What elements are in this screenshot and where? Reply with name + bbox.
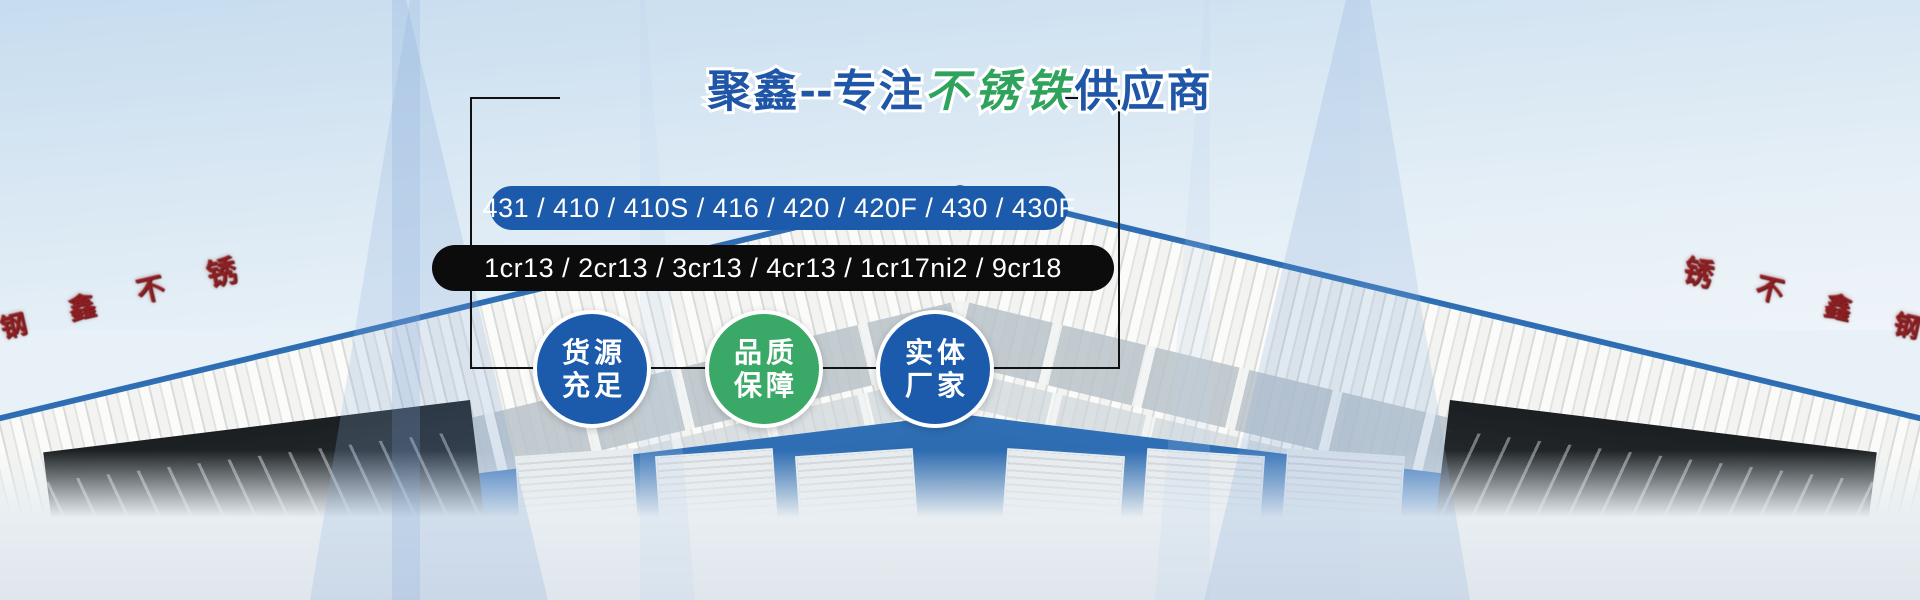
headline-supplier: 供应商 — [1075, 70, 1213, 114]
facade-sign-char: 锈 — [1679, 245, 1718, 295]
promo-banner: 鑫 不 锈 钢 鑫 不 锈 钢 — [0, 0, 1920, 600]
facade-sign-char: 鑫 — [64, 283, 99, 327]
facade-sign-char: 不 — [1752, 265, 1788, 310]
feature-line-1: 品质 — [730, 336, 798, 369]
facade-sign-char: 钢 — [0, 304, 30, 346]
feature-circle-factory[interactable]: 实体 厂家 — [876, 310, 994, 428]
feature-line-2: 厂家 — [901, 369, 969, 402]
feature-line-1: 实体 — [901, 336, 969, 369]
facade-sign-char: 不 — [132, 265, 168, 310]
headline-highlight: 不锈铁 — [925, 70, 1075, 114]
feature-line-2: 充足 — [558, 369, 626, 402]
headline: 聚鑫--专注不锈铁供应商 — [0, 70, 1920, 114]
headline-focus: 专注 — [833, 70, 925, 114]
feature-line-2: 保障 — [730, 369, 798, 402]
steel-grades-primary-badge[interactable]: 431 / 410 / 410S / 416 / 420 / 420F / 43… — [490, 186, 1068, 230]
feature-circle-supply[interactable]: 货源 充足 — [533, 310, 651, 428]
facade-sign-char: 鑫 — [1821, 283, 1856, 327]
facade-sign-char: 钢 — [1890, 304, 1920, 346]
steel-grades-secondary-badge[interactable]: 1cr13 / 2cr13 / 3cr13 / 4cr13 / 1cr17ni2… — [432, 245, 1114, 291]
ground-haze — [0, 450, 1920, 600]
feature-line-1: 货源 — [558, 336, 626, 369]
facade-sign-char: 锈 — [201, 245, 240, 295]
headline-dash: -- — [799, 72, 832, 112]
feature-circle-quality[interactable]: 品质 保障 — [705, 310, 823, 428]
headline-brand: 聚鑫 — [707, 70, 799, 114]
